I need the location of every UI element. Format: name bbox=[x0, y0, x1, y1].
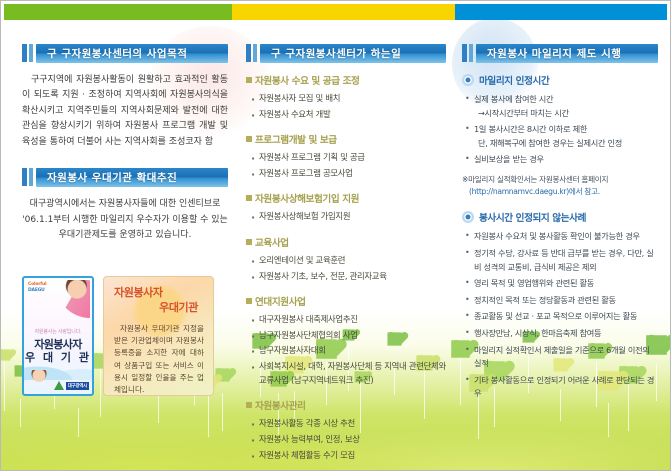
service-group-title-text: 자원봉사상해보험기입 지원 bbox=[255, 191, 359, 205]
poster-tagline: 자원봉사는 사랑입니다. bbox=[24, 328, 92, 335]
band-segment-green bbox=[4, 4, 232, 20]
tree-icon bbox=[54, 381, 64, 390]
logo-main-text: Colorful bbox=[28, 282, 46, 288]
square-bullet-icon bbox=[246, 239, 252, 245]
promo-row: Colorful DAEGU 자원봉사는 사랑입니다. 자원봉사자 우 대 기 … bbox=[22, 276, 214, 398]
heading-ribbon-preferred: 자원봉사 우대기관 확대추진 bbox=[22, 166, 228, 188]
flower-stem bbox=[4, 361, 5, 411]
flower-stem bbox=[78, 408, 79, 437]
circle-bullet-icon bbox=[462, 211, 474, 223]
mileage-item: 영리 목적 및 영업행위와 관련된 활동 bbox=[462, 277, 658, 291]
illustration-child bbox=[29, 370, 49, 388]
note-title: 자원봉사자 우대기관 bbox=[114, 286, 204, 316]
mileage-item: 종교활동 및 선교 · 포교 목적으로 이루어지는 활동 bbox=[462, 310, 658, 324]
ribbon-tick-1 bbox=[462, 44, 467, 62]
service-group: 연대지원사업대구자원봉사 대축제사업추진남구자원봉사단체협의회 사업남구자원봉사… bbox=[246, 294, 446, 387]
square-bullet-icon bbox=[246, 136, 252, 142]
service-item: 자원봉사자 모집 및 배치 bbox=[246, 92, 446, 106]
service-item: 자원봉사 프로그램 공모사업 bbox=[246, 167, 446, 181]
footnote-line1: ※마일리지 실적확인서는 자원봉사센터 홈페이지 bbox=[462, 175, 608, 184]
mileage-item: 1일 봉사시간은 8시간 이하로 제한단, 재해복구에 참여한 경우는 실제시간… bbox=[462, 123, 658, 150]
footnote-line2-url[interactable]: (http://namnamvc.daegu.kr)에서 참고. bbox=[462, 186, 658, 198]
service-group-title-text: 자원봉사 수요 및 공급 조정 bbox=[255, 73, 359, 87]
square-bullet-icon bbox=[246, 195, 252, 201]
mileage-group: 마일리지 인정시간실제 봉사에 참여한 시간→시작시간부터 마치는 시간1일 봉… bbox=[462, 73, 658, 198]
note-title-line2: 우대기관 bbox=[114, 301, 204, 316]
ribbon-tick-2 bbox=[29, 44, 33, 62]
service-group: 자원봉사상해보험기입 지원자원봉사상해보험 가입지원 bbox=[246, 191, 446, 224]
mileage-item: 행사장만남, 시상식, 한마음축제 참여등 bbox=[462, 327, 658, 341]
heading-text-services: 구 구자원봉사센터가 하는일 bbox=[271, 46, 401, 61]
mileage-item-text: 정치적인 목적 또는 정당활동과 관련된 활동 bbox=[474, 295, 616, 305]
preferred-org-note-box: 자원봉사자 우대기관 자원봉사 우대기관 지정을 받은 기관업체이며 자원봉사등… bbox=[103, 276, 214, 396]
mileage-item-text: 기타 봉사활동으로 인정되기 어려운 사례로 판단되는 경우 bbox=[474, 375, 654, 399]
mileage-list: 마일리지 인정시간실제 봉사에 참여한 시간→시작시간부터 마치는 시간1일 봉… bbox=[462, 73, 658, 401]
poster-footer: 대구광역시 bbox=[54, 381, 89, 390]
mileage-item-subtext: 단, 재해복구에 참여한 경우는 실제시간 인정 bbox=[474, 137, 658, 151]
mileage-item-text: 자원봉사 수요처 및 봉사활동 확인이 불가능한 경우 bbox=[474, 231, 640, 241]
mileage-item-subtext: →시작시간부터 마치는 시간 bbox=[474, 107, 658, 121]
mileage-item: 정치적인 목적 또는 정당활동과 관련된 활동 bbox=[462, 294, 658, 308]
service-item: 사회복지시설, 대학, 자원봉사단체 등 지역내 관련단체와 교류사업 (남구지… bbox=[246, 360, 446, 387]
mileage-item-text: 영리 목적 및 영업행위와 관련된 활동 bbox=[474, 278, 594, 288]
mileage-group-title-text: 봉사시간 인정되지 않는사례 bbox=[479, 210, 586, 224]
service-group: 자원봉사 수요 및 공급 조정자원봉사자 모집 및 배치자원봉사 수요처 개발 bbox=[246, 73, 446, 121]
middle-column: 구 구자원봉사센터가 하는일 자원봉사 수요 및 공급 조정자원봉사자 모집 및… bbox=[246, 42, 446, 471]
service-item: 남구자원봉사자대회 bbox=[246, 344, 446, 358]
mileage-item: 기타 봉사활동으로 인정되기 어려운 사례로 판단되는 경우 bbox=[462, 374, 658, 401]
service-item: 오리엔테이션 및 교육훈련 bbox=[246, 254, 446, 268]
service-item: 대구자원봉사 대축제사업추진 bbox=[246, 313, 446, 327]
heading-text-preferred: 자원봉사 우대기관 확대추진 bbox=[47, 170, 177, 185]
ribbon-tick-1 bbox=[22, 44, 27, 62]
right-column: 자원봉사 마일리지 제도 시행 마일리지 인정시간실제 봉사에 참여한 시간→시… bbox=[462, 42, 658, 413]
band-segment-yellow bbox=[232, 4, 455, 20]
service-group-title-text: 자원봉사관리 bbox=[255, 398, 306, 412]
square-bullet-icon bbox=[246, 298, 252, 304]
ribbon-tick-1 bbox=[22, 168, 27, 186]
mileage-item-text: 종교활동 및 선교 · 포교 목적으로 이루어지는 활동 bbox=[474, 311, 637, 321]
mileage-item: 실제 봉사에 참여한 시간→시작시간부터 마치는 시간 bbox=[462, 93, 658, 120]
mileage-item: 실비보상을 받는 경우 bbox=[462, 153, 658, 167]
service-item: 자원봉사활동 각종 시상 추천 bbox=[246, 417, 446, 431]
gov-badge-text: 대구광역시 bbox=[66, 382, 89, 390]
services-list: 자원봉사 수요 및 공급 조정자원봉사자 모집 및 배치자원봉사 수요처 개발프… bbox=[246, 73, 446, 462]
square-bullet-icon bbox=[246, 77, 252, 83]
ribbon-tick-2 bbox=[29, 168, 33, 186]
service-item: 남구자원봉사단체협의회 사업 bbox=[246, 329, 446, 343]
service-item: 자원봉사 기초, 보수, 전문, 관리자교육 bbox=[246, 270, 446, 284]
heading-ribbon-purpose: 구 구자원봉사센터의 사업목적 bbox=[22, 42, 228, 64]
service-group-title: 프로그램개발 및 보급 bbox=[246, 132, 446, 146]
service-item: 자원봉사 능력부여, 인정, 보상 bbox=[246, 433, 446, 447]
service-group-title: 자원봉사상해보험기입 지원 bbox=[246, 191, 446, 205]
volunteer-poster-card: Colorful DAEGU 자원봉사는 사랑입니다. 자원봉사자 우 대 기 … bbox=[22, 276, 94, 396]
ribbon-bar: 구 구자원봉사센터가 하는일 bbox=[260, 44, 446, 63]
heading-ribbon-mileage: 자원봉사 마일리지 제도 시행 bbox=[462, 42, 658, 64]
mileage-item-text: 행사장만남, 시상식, 한마음축제 참여등 bbox=[474, 328, 601, 338]
ribbon-tick-2 bbox=[253, 44, 257, 62]
ribbon-tick-2 bbox=[469, 44, 473, 62]
colorful-daegu-logo: Colorful DAEGU bbox=[28, 282, 46, 293]
preferred-org-paragraph: 대구광역시에서는 자원봉사자들에 대한 인센티브로 '06.1.1부터 시행한 … bbox=[22, 197, 228, 243]
flower-stem bbox=[20, 399, 21, 427]
service-group-title: 연대지원사업 bbox=[246, 294, 446, 308]
mileage-item-text: 실제 봉사에 참여한 시간 bbox=[474, 94, 553, 104]
mileage-item: 마일리지 실적확인서 제출일을 기준으로 6개월 이전의 실적 bbox=[462, 344, 658, 371]
note-title-line1: 자원봉사자 bbox=[114, 286, 163, 299]
ribbon-bar: 자원봉사 마일리지 제도 시행 bbox=[476, 44, 658, 63]
left-column: 구 구자원봉사센터의 사업목적 구구지역에 자원봉사활동이 원활하고 효과적인 … bbox=[22, 42, 228, 248]
ribbon-tick-1 bbox=[246, 44, 251, 62]
band-segment-blue bbox=[455, 4, 667, 20]
illustration-girl bbox=[56, 280, 90, 318]
note-body: 자원봉사 우대기관 지정을 받은 기관업체이며 자원봉사등록증을 소지한 자에 … bbox=[114, 323, 204, 396]
mileage-group-title-text: 마일리지 인정시간 bbox=[479, 73, 549, 87]
service-item: 자원봉사 체험활동 수기 모집 bbox=[246, 449, 446, 463]
mileage-item-text: 실비보상을 받는 경우 bbox=[474, 154, 544, 164]
service-group: 자원봉사관리자원봉사활동 각종 시상 추천자원봉사 능력부여, 인정, 보상자원… bbox=[246, 398, 446, 462]
brochure-page: 구 구자원봉사센터의 사업목적 구구지역에 자원봉사활동이 원활하고 효과적인 … bbox=[0, 0, 671, 471]
mileage-item: 자원봉사 수요처 및 봉사활동 확인이 불가능한 경우 bbox=[462, 230, 658, 244]
mileage-group-title: 봉사시간 인정되지 않는사례 bbox=[462, 210, 658, 224]
service-item: 자원봉사 프로그램 기획 및 공급 bbox=[246, 151, 446, 165]
service-group-title: 교육사업 bbox=[246, 235, 446, 249]
mileage-footnote: ※마일리지 실적확인서는 자원봉사센터 홈페이지(http://namnamvc… bbox=[462, 174, 658, 198]
service-group-title-text: 프로그램개발 및 보급 bbox=[255, 132, 337, 146]
flower-stem bbox=[222, 393, 223, 431]
service-group: 교육사업오리엔테이션 및 교육훈련자원봉사 기초, 보수, 전문, 관리자교육 bbox=[246, 235, 446, 283]
mileage-group: 봉사시간 인정되지 않는사례자원봉사 수요처 및 봉사활동 확인이 불가능한 경… bbox=[462, 210, 658, 401]
mileage-item: 정기적 수당, 강사료 등 반대 급부를 받는 경우, 다만, 실비 성격의 교… bbox=[462, 247, 658, 274]
heart-flower-icon bbox=[0, 349, 10, 360]
service-item: 자원봉사 수요처 개발 bbox=[246, 108, 446, 122]
mileage-group-title: 마일리지 인정시간 bbox=[462, 73, 658, 87]
ribbon-bar: 구 구자원봉사센터의 사업목적 bbox=[36, 44, 228, 63]
heading-text-purpose: 구 구자원봉사센터의 사업목적 bbox=[47, 46, 187, 61]
service-item: 자원봉사상해보험 가입지원 bbox=[246, 210, 446, 224]
heading-ribbon-services: 구 구자원봉사센터가 하는일 bbox=[246, 42, 446, 64]
square-bullet-icon bbox=[246, 402, 252, 408]
purpose-paragraph: 구구지역에 자원봉사활동이 원활하고 효과적인 활동이 되도록 지원 · 조정하… bbox=[22, 73, 228, 150]
logo-sub-text: DAEGU bbox=[28, 288, 46, 294]
service-group-title: 자원봉사관리 bbox=[246, 398, 446, 412]
top-color-band bbox=[4, 4, 667, 20]
ribbon-bar: 자원봉사 우대기관 확대추진 bbox=[36, 168, 228, 187]
service-group-title-text: 교육사업 bbox=[255, 235, 289, 249]
heading-text-mileage: 자원봉사 마일리지 제도 시행 bbox=[487, 46, 621, 61]
service-group-title-text: 연대지원사업 bbox=[255, 294, 306, 308]
mileage-item-text: 1일 봉사시간은 8시간 이하로 제한 bbox=[474, 124, 587, 134]
service-group: 프로그램개발 및 보급자원봉사 프로그램 기획 및 공급자원봉사 프로그램 공모… bbox=[246, 132, 446, 180]
mileage-item-text: 마일리지 실적확인서 제출일을 기준으로 6개월 이전의 실적 bbox=[474, 345, 650, 369]
service-group-title: 자원봉사 수요 및 공급 조정 bbox=[246, 73, 446, 87]
mileage-item-text: 정기적 수당, 강사료 등 반대 급부를 받는 경우, 다만, 실비 성격의 교… bbox=[474, 248, 654, 272]
circle-bullet-icon bbox=[462, 74, 474, 86]
